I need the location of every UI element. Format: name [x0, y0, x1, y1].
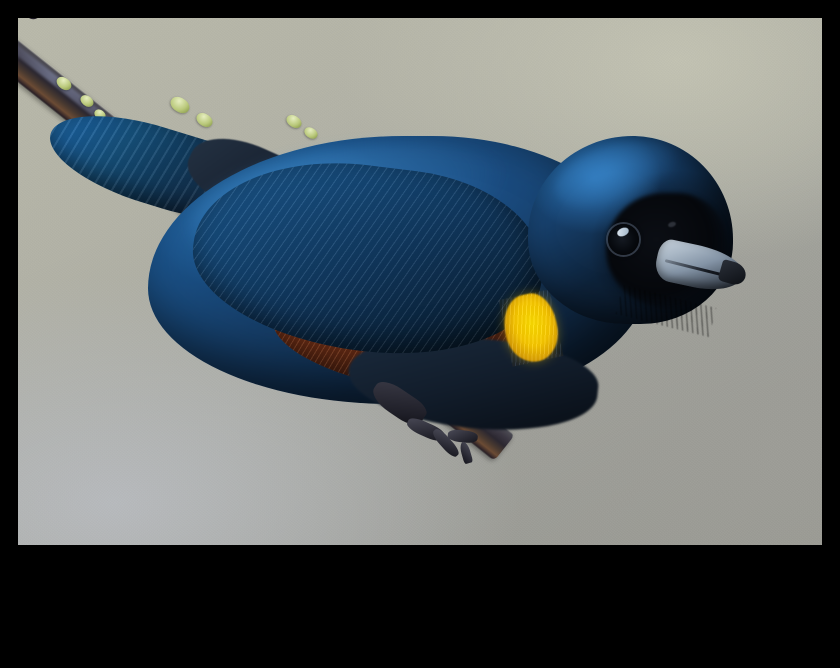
bird-subject — [18, 18, 822, 545]
caption-bar: Especie:Tangará alcalde (Euphonia pector… — [0, 552, 840, 668]
claw — [459, 441, 474, 465]
screenshot-root: Especie:Tangará alcalde (Euphonia pector… — [0, 0, 840, 668]
bird-photograph — [18, 18, 822, 545]
